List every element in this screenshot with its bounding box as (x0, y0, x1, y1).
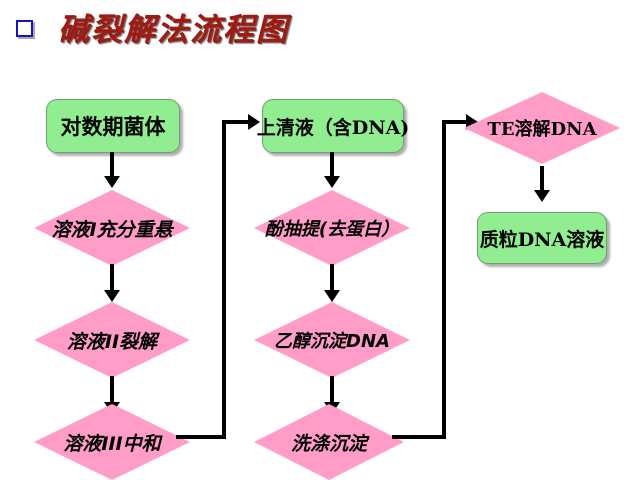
connector-n3-n4-line (110, 376, 114, 404)
node-supernatant-with-dna[interactable]: 上清液（含DNA) (262, 99, 404, 153)
connector-n9-n10-line (540, 166, 544, 192)
connector-n4-n5-segment-into (222, 120, 250, 124)
node-wash-precipitate[interactable]: 洗涤沉淀 (254, 404, 404, 480)
slide-canvas: 碱裂解法流程图 对数期菌体 溶液I充分重悬 溶液II裂解 溶液III中和 上清液… (0, 0, 632, 473)
node-te-dissolve-dna[interactable]: TE溶解DNA (464, 92, 620, 164)
node-label: 洗涤沉淀 (291, 429, 367, 456)
node-phenol-extraction[interactable]: 酚抽提(去蛋白） (254, 190, 410, 266)
node-logarithmic-phase-cells[interactable]: 对数期菌体 (46, 99, 180, 153)
node-label: 溶液III中和 (63, 429, 160, 456)
connector-n2-n3-line (110, 264, 114, 292)
node-label: 对数期菌体 (61, 111, 166, 141)
node-solution-3-neutralize[interactable]: 溶液III中和 (34, 404, 190, 480)
node-label: TE溶解DNA (487, 115, 596, 141)
square-bullet-icon (16, 20, 33, 37)
node-label: 溶液I充分重悬 (51, 215, 172, 242)
connector-n4-n5-segment-right (176, 435, 226, 439)
node-plasmid-dna-solution[interactable]: 质粒DNA溶液 (477, 212, 607, 264)
node-label: 溶液II裂解 (67, 327, 157, 354)
connector-n5-n6-arrowhead (324, 176, 340, 188)
connector-n6-n7-arrowhead (324, 290, 340, 302)
node-label: 上清液（含DNA) (257, 113, 410, 140)
node-ethanol-precipitation[interactable]: 乙醇沉淀DNA (254, 302, 410, 378)
node-label: 质粒DNA溶液 (480, 225, 605, 252)
connector-n7-n8-line (330, 376, 334, 404)
connector-n2-n3-arrowhead (104, 290, 120, 302)
connector-n4-n5-segment-up (222, 122, 226, 439)
connector-n9-n10-arrowhead (534, 190, 550, 202)
connector-n6-n7-line (330, 264, 334, 292)
connector-n8-n9-segment-right (392, 435, 446, 439)
connector-n5-n6-line (330, 152, 334, 178)
page-title: 碱裂解法流程图 (58, 4, 289, 49)
node-solution-1-resuspend[interactable]: 溶液I充分重悬 (34, 190, 190, 266)
connector-n8-n9-segment-up (442, 122, 446, 439)
node-label: 乙醇沉淀DNA (274, 327, 390, 353)
slide-title-row: 碱裂解法流程图 (0, 0, 632, 60)
node-label: 酚抽提(去蛋白） (265, 215, 399, 241)
node-solution-2-lysis[interactable]: 溶液II裂解 (34, 302, 190, 378)
connector-n1-n2-line (110, 152, 114, 178)
connector-n1-n2-arrowhead (104, 176, 120, 188)
